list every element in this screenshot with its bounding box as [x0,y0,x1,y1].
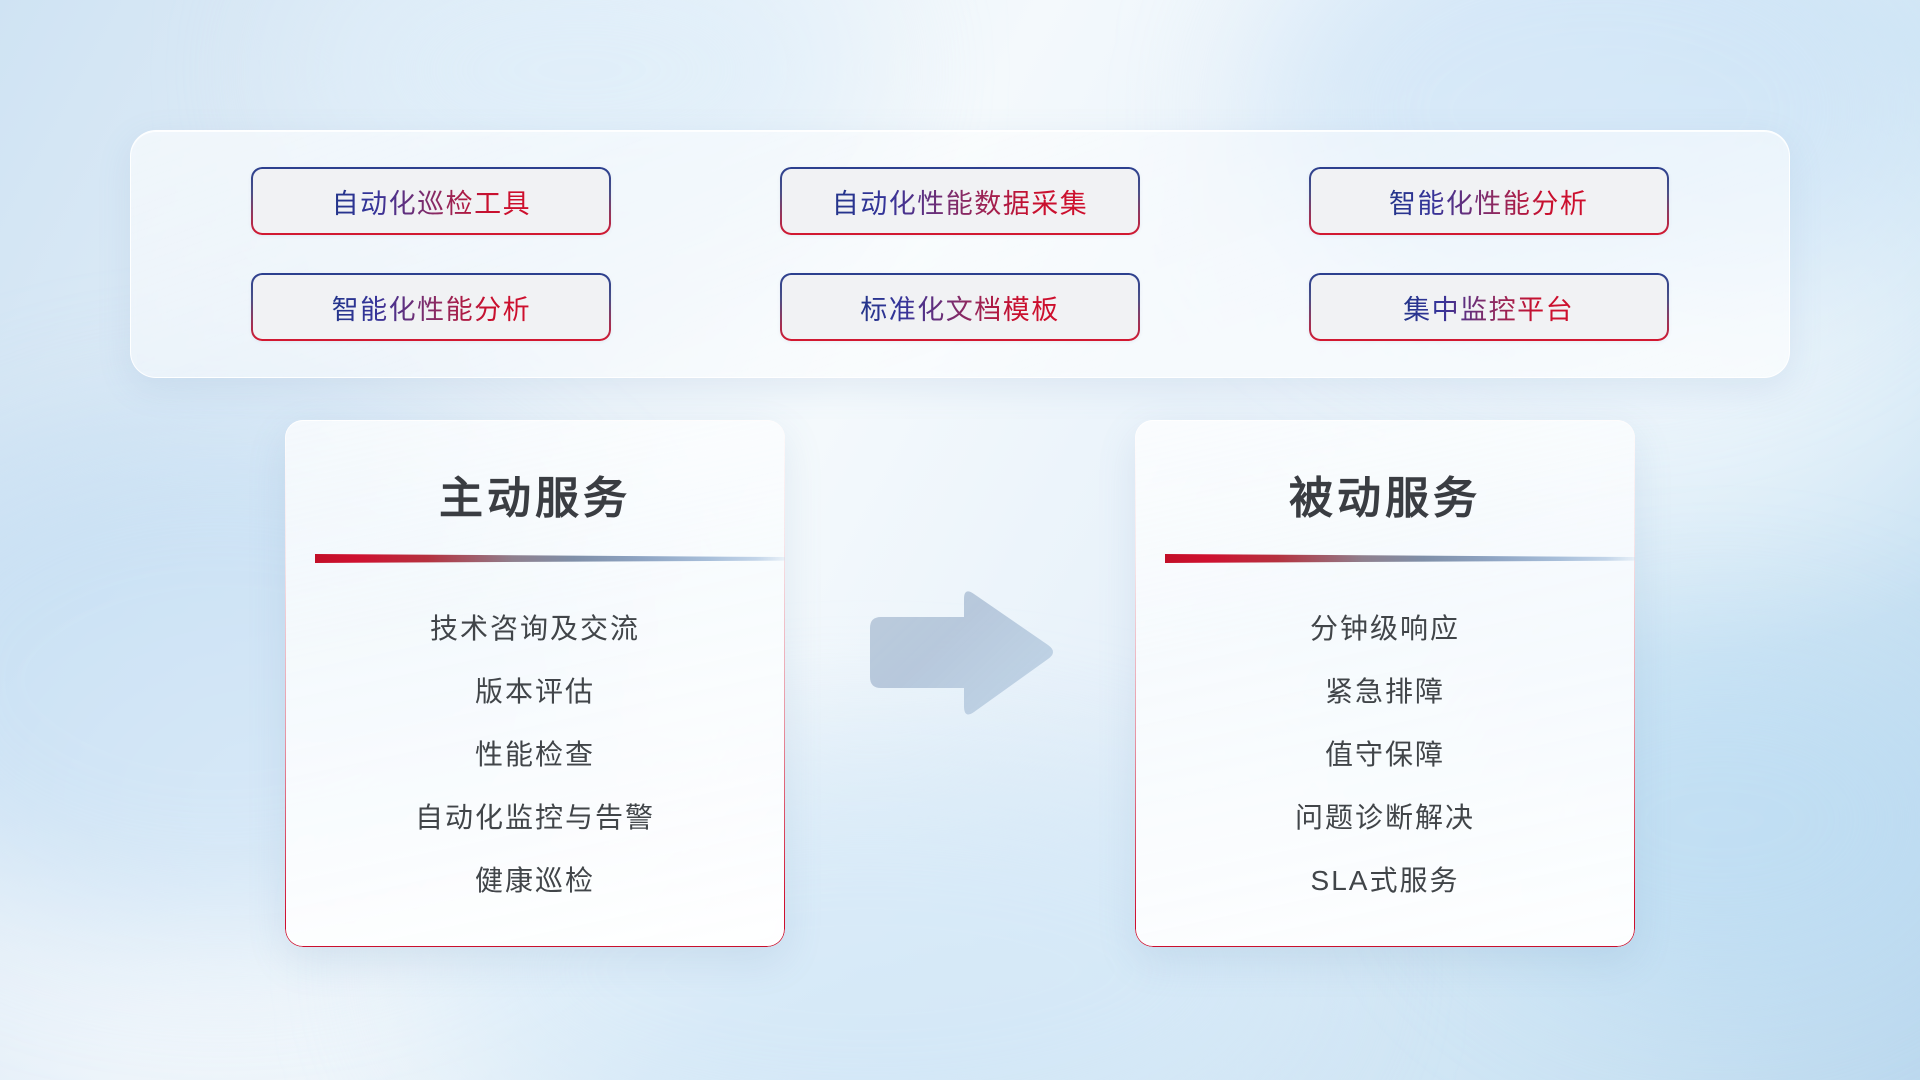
capability-pill[interactable]: 自动化巡检工具 [251,167,611,235]
capability-pill[interactable]: 标准化文档模板 [780,273,1140,341]
service-card-title: 被动服务 [1135,462,1635,526]
capability-pill-label: 自动化性能数据采集 [832,182,1089,221]
service-list-item: 自动化监控与告警 [285,786,785,849]
capability-pill-label: 智能化性能分析 [1389,182,1589,221]
service-list-item: 性能检查 [285,723,785,786]
service-list-item: 版本评估 [285,660,785,723]
service-list-item: 值守保障 [1135,723,1635,786]
service-list-item: 问题诊断解决 [1135,786,1635,849]
capability-pill[interactable]: 智能化性能分析 [1309,167,1669,235]
title-divider [315,552,785,563]
service-list-item: SLA式服务 [1135,849,1635,912]
service-card-title: 主动服务 [285,462,785,526]
capability-pill-label: 标准化文档模板 [860,288,1060,327]
diagram-canvas: 自动化巡检工具 自动化性能数据采集 智能化性能分析 智能化性能分析 标准化文档模… [0,0,1920,1080]
capability-pill[interactable]: 自动化性能数据采集 [780,167,1140,235]
service-list-item: 紧急排障 [1135,660,1635,723]
service-item-list: 分钟级响应 紧急排障 值守保障 问题诊断解决 SLA式服务 [1135,597,1635,912]
service-list-item: 分钟级响应 [1135,597,1635,660]
capability-pill[interactable]: 智能化性能分析 [251,273,611,341]
capability-pill-label: 自动化巡检工具 [332,182,532,221]
service-card-reactive[interactable]: 被动服务 分钟级响应 紧急排障 值守保障 问题诊断解决 SLA式服务 [1135,420,1635,947]
title-divider [1165,552,1635,563]
service-list-item: 技术咨询及交流 [285,597,785,660]
service-list-item: 健康巡检 [285,849,785,912]
capability-pill[interactable]: 集中监控平台 [1309,273,1669,341]
capability-pill-label: 智能化性能分析 [332,288,532,327]
service-cards-row: 主动服务 技术咨询及交流 版本评估 性能检查 自动化监控与告警 健康巡检 被动服… [0,420,1920,980]
capabilities-panel: 自动化巡检工具 自动化性能数据采集 智能化性能分析 智能化性能分析 标准化文档模… [130,130,1790,378]
service-card-proactive[interactable]: 主动服务 技术咨询及交流 版本评估 性能检查 自动化监控与告警 健康巡检 [285,420,785,947]
service-item-list: 技术咨询及交流 版本评估 性能检查 自动化监控与告警 健康巡检 [285,597,785,912]
capability-pill-label: 集中监控平台 [1403,288,1574,327]
